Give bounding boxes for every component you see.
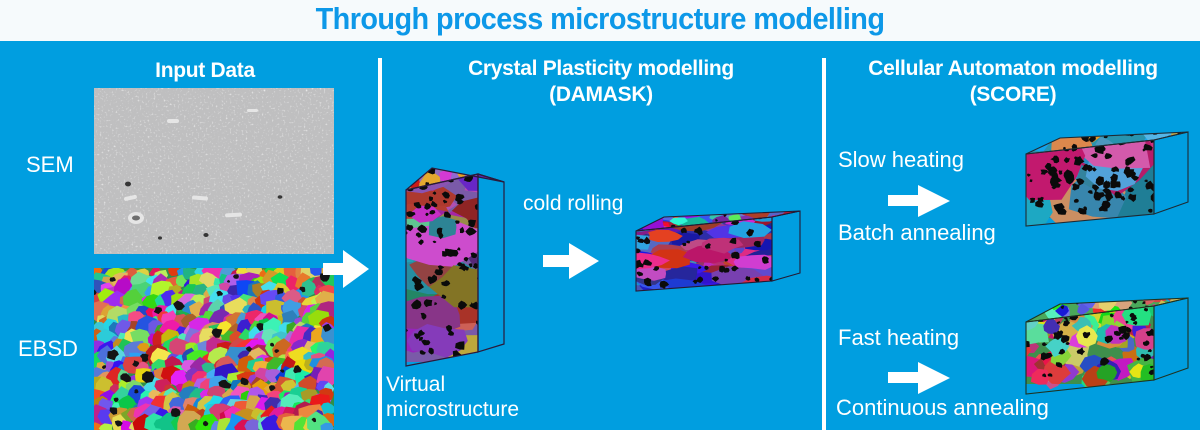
arrow-input-to-crystal-plasticity bbox=[323, 250, 369, 288]
label-sem: SEM bbox=[26, 152, 74, 178]
column-divider-2 bbox=[822, 58, 826, 430]
ebsd-orientation-map-image bbox=[94, 268, 334, 430]
sem-micrograph-image bbox=[94, 88, 334, 254]
arrow-fast-heating bbox=[888, 362, 950, 394]
column-header-cellular-automaton: Cellular Automaton modelling (SCORE) bbox=[830, 56, 1196, 108]
graphical-abstract: Through process microstructure modelling… bbox=[0, 0, 1200, 430]
arrow-cold-rolling bbox=[543, 243, 599, 279]
label-ebsd: EBSD bbox=[18, 336, 78, 362]
label-slow-heating: Slow heating bbox=[838, 147, 964, 173]
column-header-input-data: Input Data bbox=[40, 58, 370, 84]
column-header-crystal-plasticity: Crystal Plasticity modelling (DAMASK) bbox=[386, 56, 816, 108]
label-continuous-annealing: Continuous annealing bbox=[836, 395, 1049, 421]
block-fine-grain-microstructure bbox=[1022, 282, 1194, 398]
title-band: Through process microstructure modelling bbox=[0, 0, 1200, 41]
column-divider-1 bbox=[378, 58, 382, 430]
block-coarse-grain-microstructure bbox=[1022, 118, 1194, 230]
block-virtual-microstructure bbox=[400, 152, 510, 370]
arrow-slow-heating bbox=[888, 185, 950, 217]
caption-virtual-microstructure: Virtual microstructure bbox=[386, 372, 519, 422]
block-cold-rolled-microstructure bbox=[632, 205, 804, 293]
label-batch-annealing: Batch annealing bbox=[838, 220, 996, 246]
label-cold-rolling: cold rolling bbox=[523, 191, 623, 217]
page-title: Through process microstructure modelling bbox=[42, 1, 1158, 37]
label-fast-heating: Fast heating bbox=[838, 325, 959, 351]
